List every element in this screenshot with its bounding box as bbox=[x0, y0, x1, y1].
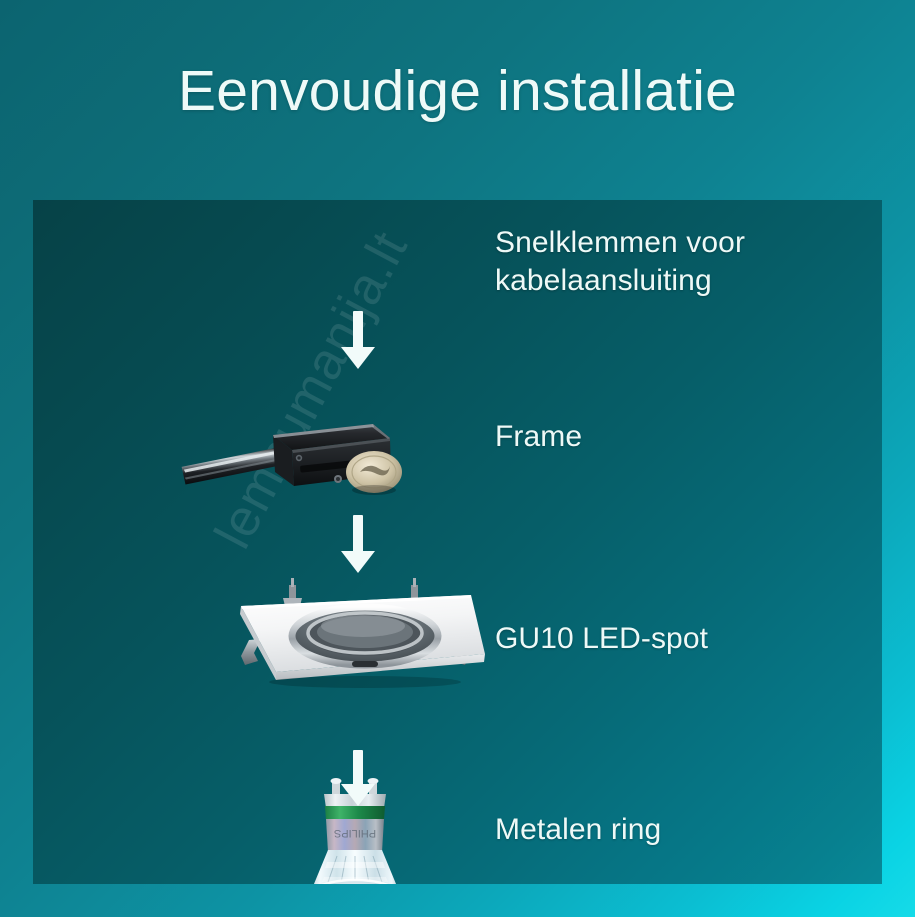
step-label-frame: Frame bbox=[495, 418, 582, 456]
step-label-ring: Metalen ring bbox=[495, 811, 661, 849]
step-label-connector-line1: Snelklemmen voor bbox=[495, 224, 825, 262]
arrow-lamp-to-ring bbox=[341, 750, 375, 808]
lamp-brand-text: PHILIPS bbox=[334, 827, 376, 839]
arrow-head bbox=[341, 784, 375, 806]
arrow-shaft bbox=[353, 311, 363, 349]
arrow-head bbox=[341, 347, 375, 369]
terminal-block-connector-image bbox=[178, 412, 418, 522]
step-label-connector: Snelklemmen voor kabelaansluiting bbox=[495, 224, 825, 300]
arrow-shaft bbox=[353, 750, 363, 786]
step-label-connector-line2: kabelaansluiting bbox=[495, 262, 825, 300]
diagram-panel: lempumanija.lt bbox=[33, 200, 882, 884]
terminal-block-svg bbox=[178, 412, 418, 522]
downlight-frame-svg bbox=[213, 568, 498, 688]
arrow-connector-to-frame bbox=[341, 311, 375, 369]
page-title: Eenvoudige installatie bbox=[0, 62, 915, 122]
installation-diagram-slide: Eenvoudige installatie lempumanija.lt bbox=[0, 0, 915, 917]
square-downlight-frame-image bbox=[213, 568, 498, 688]
arrow-shaft bbox=[353, 515, 363, 553]
step-label-lamp: GU10 LED-spot bbox=[495, 620, 708, 658]
arrow-head bbox=[341, 551, 375, 573]
arrow-frame-to-lamp bbox=[341, 515, 375, 573]
